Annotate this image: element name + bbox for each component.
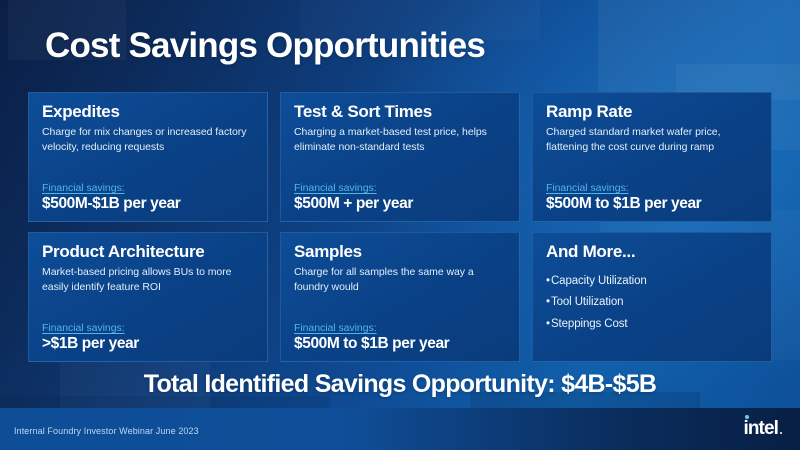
list-item: •Steppings Cost (546, 319, 758, 331)
card-description: Market-based pricing allows BUs to more … (42, 265, 254, 295)
financial-savings-label[interactable]: Financial savings: (546, 182, 629, 194)
card-spacer (42, 295, 254, 323)
card-samples: Samples Charge for all samples the same … (280, 232, 520, 362)
card-ramp-rate: Ramp Rate Charged standard market wafer … (532, 92, 772, 222)
intel-logo-trademark-dot-icon (780, 432, 783, 435)
card-description: Charge for all samples the same way a fo… (294, 265, 506, 295)
card-product-architecture: Product Architecture Market-based pricin… (28, 232, 268, 362)
financial-savings-label[interactable]: Financial savings: (42, 182, 125, 194)
bullet-dot-icon: • (546, 296, 550, 308)
card-expedites: Expedites Charge for mix changes or incr… (28, 92, 268, 222)
financial-savings-value: $500M-$1B per year (42, 195, 254, 213)
card-title: Test & Sort Times (294, 103, 506, 122)
card-spacer (294, 155, 506, 183)
card-title: Expedites (42, 103, 254, 122)
card-spacer (294, 295, 506, 323)
card-test-and-sort-times: Test & Sort Times Charging a market-base… (280, 92, 520, 222)
footer-note: Internal Foundry Investor Webinar June 2… (14, 426, 199, 436)
page-title: Cost Savings Opportunities (45, 26, 485, 66)
card-title: Product Architecture (42, 243, 254, 262)
card-title: Ramp Rate (546, 103, 758, 122)
bullet-list: •Capacity Utilization •Tool Utilization … (546, 276, 758, 341)
card-title: And More... (546, 243, 758, 262)
financial-savings-label[interactable]: Financial savings: (294, 182, 377, 194)
total-savings-banner: Total Identified Savings Opportunity: $4… (0, 366, 800, 402)
intel-logo-text: intel (743, 418, 778, 439)
intel-logo: intel (743, 419, 782, 438)
financial-savings-label[interactable]: Financial savings: (294, 322, 377, 334)
card-spacer (42, 155, 254, 183)
card-title: Samples (294, 243, 506, 262)
list-item-label: Capacity Utilization (551, 275, 647, 287)
financial-savings-value: $500M to $1B per year (294, 335, 506, 353)
list-item-label: Steppings Cost (551, 318, 628, 330)
financial-savings-value: $500M to $1B per year (546, 195, 758, 213)
financial-savings-label[interactable]: Financial savings: (42, 322, 125, 334)
bullet-dot-icon: • (546, 318, 550, 330)
list-item: •Capacity Utilization (546, 276, 758, 288)
financial-savings-value: >$1B per year (42, 335, 254, 353)
card-description: Charged standard market wafer price, fla… (546, 125, 758, 155)
card-and-more: And More... •Capacity Utilization •Tool … (532, 232, 772, 362)
intel-logo-dot-icon (745, 415, 749, 419)
list-item-label: Tool Utilization (551, 296, 624, 308)
slide-canvas: Cost Savings Opportunities Expedites Cha… (0, 0, 800, 450)
cards-grid: Expedites Charge for mix changes or incr… (28, 92, 772, 362)
card-description: Charging a market-based test price, help… (294, 125, 506, 155)
intel-logo-wordmark: intel (743, 418, 778, 439)
card-spacer (546, 155, 758, 183)
bullet-dot-icon: • (546, 275, 550, 287)
background-block (598, 0, 800, 100)
card-description: Charge for mix changes or increased fact… (42, 125, 254, 155)
financial-savings-value: $500M + per year (294, 195, 506, 213)
total-savings-text: Total Identified Savings Opportunity: $4… (144, 370, 657, 399)
list-item: •Tool Utilization (546, 297, 758, 309)
